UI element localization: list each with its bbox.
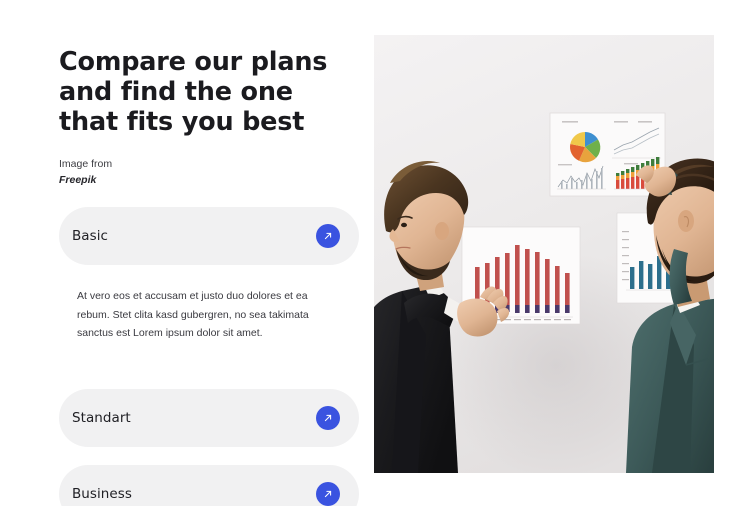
- accordion-header-business[interactable]: Business: [59, 465, 359, 506]
- accordion-item-business: Business: [59, 465, 359, 506]
- accordion-title-standart: Standart: [72, 410, 131, 426]
- accordion-title-business: Business: [72, 486, 132, 502]
- accordion-body-basic: At vero eos et accusam et justo duo dolo…: [59, 265, 359, 343]
- accordion-spacer-1: [59, 343, 359, 389]
- photo-illustration: [374, 35, 714, 473]
- image-credit: Image from Freepik: [59, 157, 374, 189]
- accordion-body-text-basic: At vero eos et accusam et justo duo dolo…: [77, 287, 331, 343]
- accordion-toggle-basic[interactable]: [316, 224, 340, 248]
- arrow-up-right-icon: [322, 412, 334, 424]
- page-title: Compare our plans and find the one that …: [59, 48, 359, 137]
- accordion-item-standart: Standart: [59, 389, 359, 447]
- image-credit-source: Freepik: [59, 173, 374, 189]
- arrow-up-right-icon: [322, 488, 334, 500]
- image-credit-label: Image from: [59, 157, 374, 173]
- accordion-spacer-2: [59, 447, 359, 465]
- left-content-column: Compare our plans and find the one that …: [0, 0, 374, 506]
- accordion-header-basic[interactable]: Basic: [59, 207, 359, 265]
- accordion-item-basic: Basic At vero eos et accusam et justo du…: [59, 207, 359, 343]
- accordion-toggle-business[interactable]: [316, 482, 340, 506]
- pricing-plans-section: Compare our plans and find the one that …: [0, 0, 750, 506]
- plans-accordion: Basic At vero eos et accusam et justo du…: [59, 207, 359, 506]
- accordion-title-basic: Basic: [72, 228, 108, 244]
- accordion-header-standart[interactable]: Standart: [59, 389, 359, 447]
- arrow-up-right-icon: [322, 230, 334, 242]
- hero-photo: [374, 35, 714, 473]
- accordion-toggle-standart[interactable]: [316, 406, 340, 430]
